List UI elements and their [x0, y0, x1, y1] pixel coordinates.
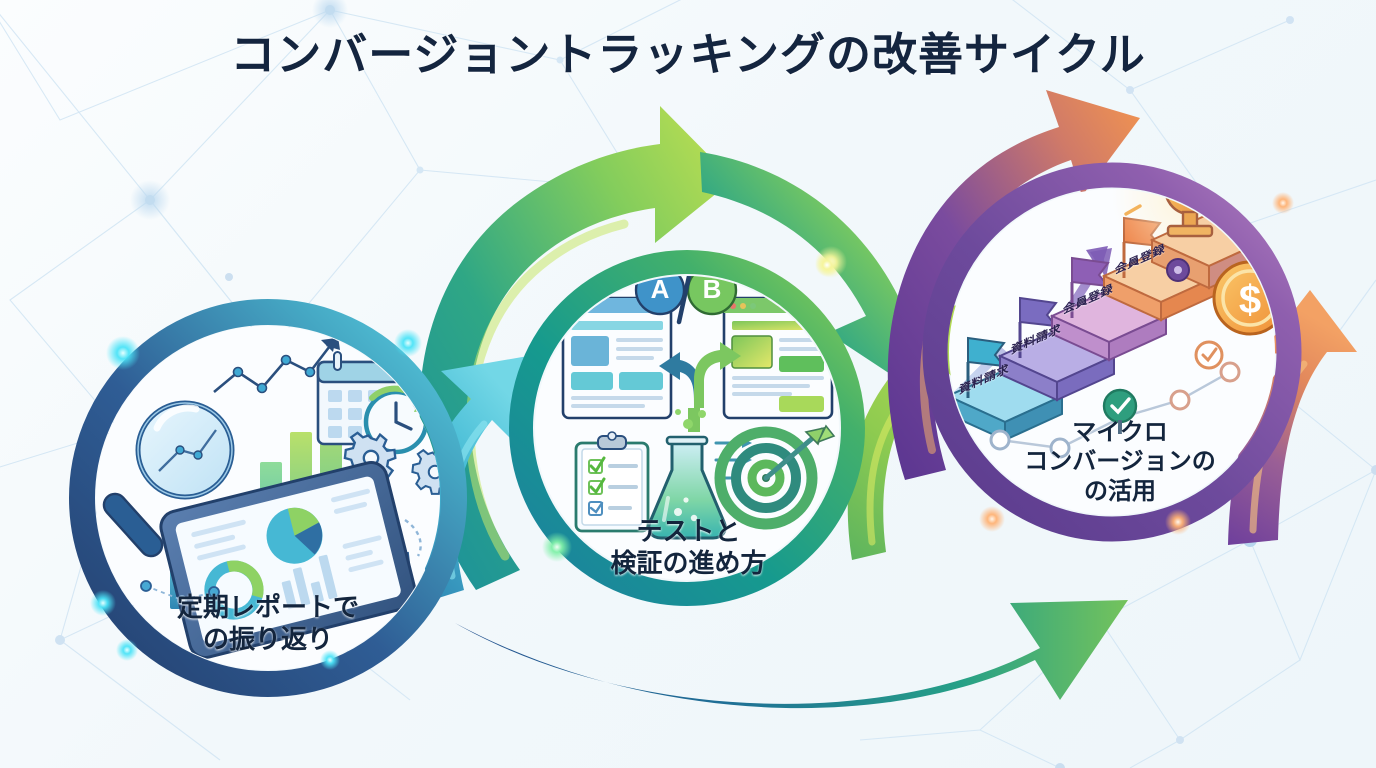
infographic-canvas: $	[0, 0, 1376, 768]
stage-3-label: マイクロ コンバージョンの の活用	[1000, 418, 1240, 506]
stage-1-label: 定期レポートで の振り返り	[118, 592, 418, 655]
stage-2-label: テストと 検証の進め方	[556, 516, 821, 579]
step-label-3: 会員登録	[1063, 280, 1113, 318]
page-title: コンバージョントラッキングの改善サイクル	[0, 18, 1376, 83]
ab-letter-a: A	[637, 274, 683, 305]
text-layer: コンバージョントラッキングの改善サイクル 定期レポートで の振り返り テストと …	[0, 0, 1376, 768]
ab-letter-b: B	[689, 274, 735, 305]
step-label-2: 資料請求	[1011, 320, 1061, 358]
step-label-4: 会員登録	[1115, 240, 1165, 278]
step-label-1: 資料請求	[959, 360, 1009, 398]
